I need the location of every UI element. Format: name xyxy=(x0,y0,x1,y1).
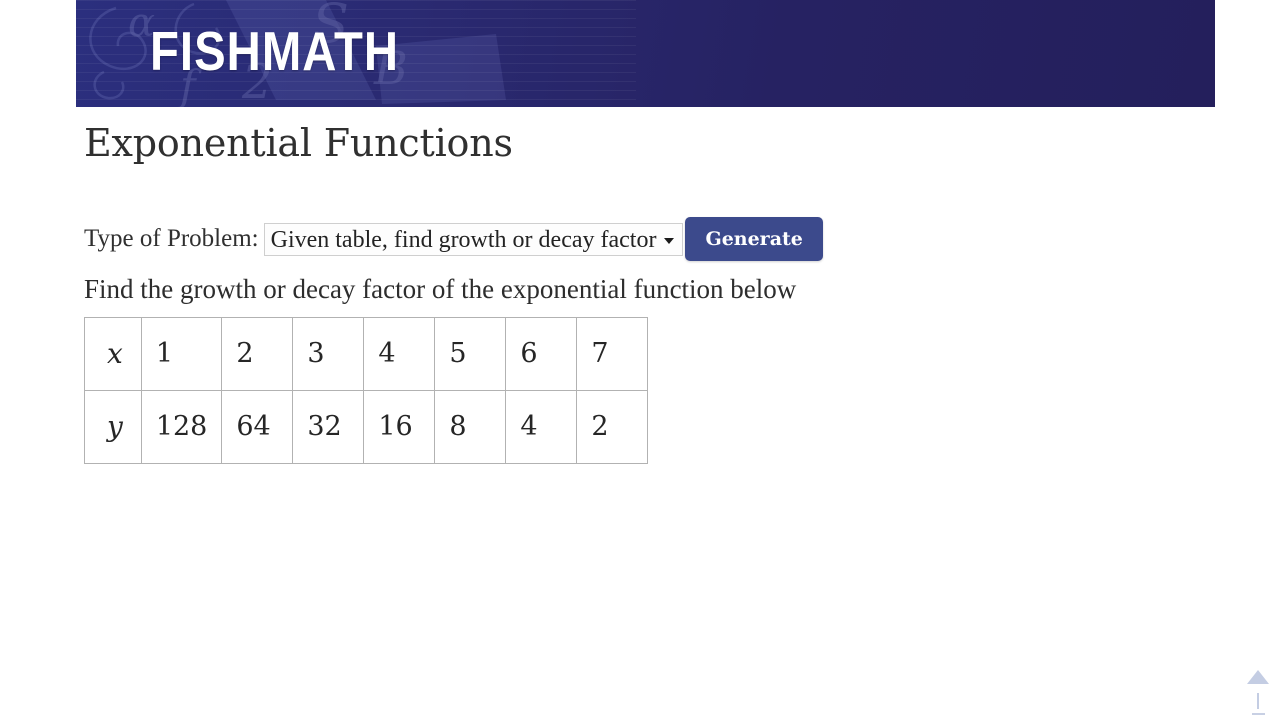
table-cell: 1 xyxy=(141,318,222,391)
site-banner: S B f 2 α FISHMATH xyxy=(76,0,1215,107)
chevron-down-icon xyxy=(664,238,674,244)
table-cell: 2 xyxy=(577,391,648,464)
problem-type-selected-value: Given table, find growth or decay factor xyxy=(271,226,657,254)
main-content: Exponential Functions Type of Problem: G… xyxy=(84,107,1224,464)
row-variable-label: x xyxy=(85,318,142,391)
scroll-to-top-icon[interactable] xyxy=(1241,664,1275,720)
table-cell: 4 xyxy=(364,318,435,391)
row-variable-label: y xyxy=(85,391,142,464)
problem-prompt: Find the growth or decay factor of the e… xyxy=(84,272,1224,306)
scroll-to-top-stem xyxy=(1257,693,1259,709)
table-cell: 64 xyxy=(222,391,293,464)
type-of-problem-label: Type of Problem: xyxy=(84,224,259,254)
table-cell: 128 xyxy=(141,391,222,464)
problem-type-select[interactable]: Given table, find growth or decay factor xyxy=(264,223,684,256)
function-table: x 1 2 3 4 5 6 7 y 128 64 32 16 8 4 xyxy=(84,317,648,464)
table-cell: 2 xyxy=(222,318,293,391)
table-cell: 5 xyxy=(435,318,506,391)
table-cell: 16 xyxy=(364,391,435,464)
scroll-to-top-base xyxy=(1252,713,1265,715)
site-title: FISHMATH xyxy=(150,16,399,86)
table-cell: 32 xyxy=(293,391,364,464)
table-cell: 3 xyxy=(293,318,364,391)
table-row: y 128 64 32 16 8 4 2 xyxy=(85,391,648,464)
table-cell: 6 xyxy=(506,318,577,391)
problem-controls: Type of Problem: Given table, find growt… xyxy=(84,219,1224,259)
generate-button[interactable]: Generate xyxy=(685,217,822,261)
table-cell: 8 xyxy=(435,391,506,464)
table-row: x 1 2 3 4 5 6 7 xyxy=(85,318,648,391)
scroll-to-top-arrow xyxy=(1247,670,1269,684)
app-page: S B f 2 α FISHMATH Exponential Functions… xyxy=(0,0,1280,720)
page-title: Exponential Functions xyxy=(84,107,1224,169)
table-cell: 7 xyxy=(577,318,648,391)
table-cell: 4 xyxy=(506,391,577,464)
